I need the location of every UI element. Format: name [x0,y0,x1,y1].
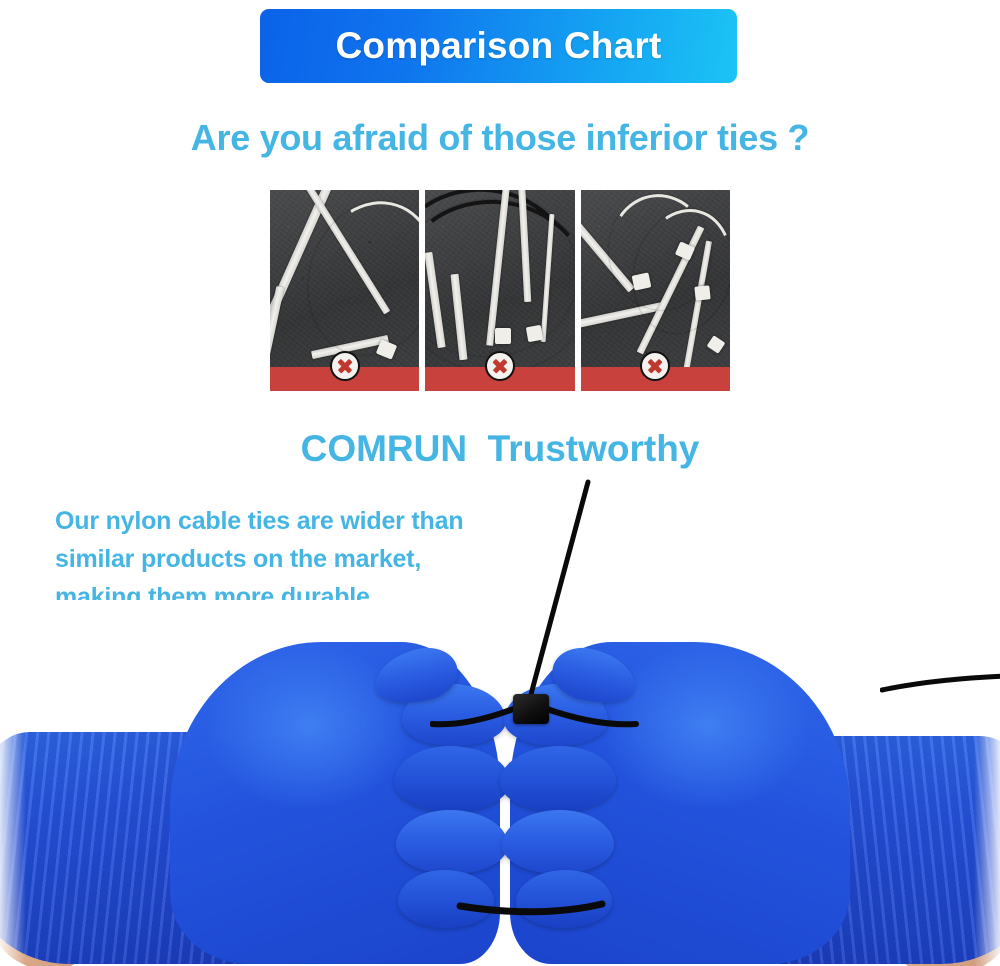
cable-tie-head [513,694,549,724]
header-banner: Comparison Chart [260,9,737,83]
knuckle-right-2 [500,746,616,812]
knuckle-left-2 [394,746,510,812]
comparison-photo-strip [270,190,730,391]
page-title: Comparison Chart [336,25,662,67]
inferior-tie-photo-1 [270,190,419,391]
subtitle-question: Are you afraid of those inferior ties ? [0,117,1000,159]
cable-tie-head [526,325,543,342]
red-x-icon [330,351,360,381]
cable-tie-head [495,328,511,344]
cable-tie-strap-lower [440,880,620,940]
red-x-icon [485,351,515,381]
inferior-tie-photo-2 [425,190,574,391]
red-x-icon [640,351,670,381]
inferior-tie-photo-3 [581,190,730,391]
cable-tie-head [694,285,710,300]
cable-tie-strap-right [540,690,660,750]
cable-tie-strap-right-upper [880,660,1000,720]
knuckle-left-3 [396,810,508,874]
knuckle-right-3 [502,810,614,874]
